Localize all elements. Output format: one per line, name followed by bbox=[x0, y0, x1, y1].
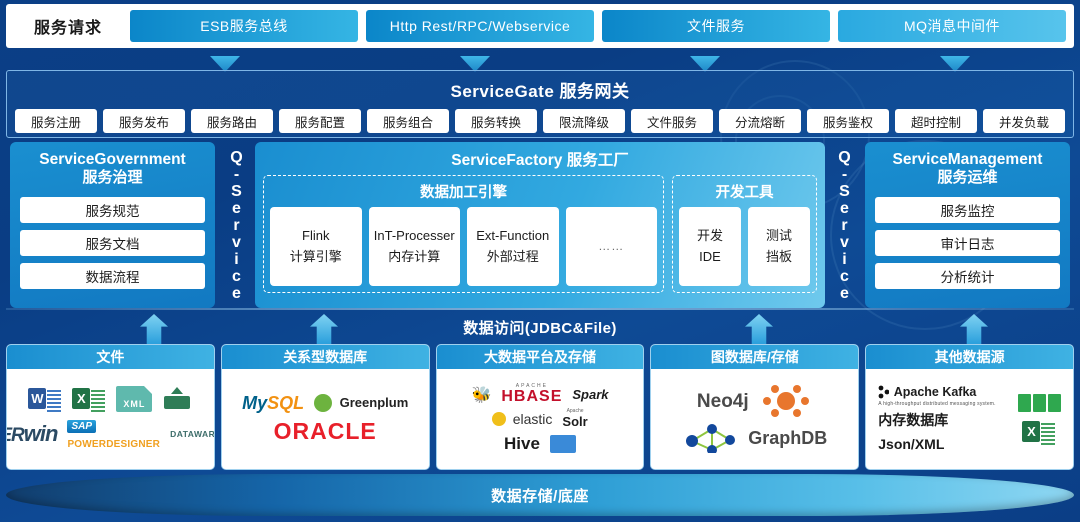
gate-item-file-service[interactable]: 文件服务 bbox=[631, 109, 713, 133]
request-chip-mq[interactable]: MQ消息中间件 bbox=[838, 10, 1066, 42]
gate-item-service-transform[interactable]: 服务转换 bbox=[455, 109, 537, 133]
service-gate-chip-list: 服务注册 服务发布 服务路由 服务配置 服务组合 服务转换 限流降级 文件服务 … bbox=[7, 102, 1073, 133]
elastic-dot-icon bbox=[492, 412, 506, 426]
dev-tools-cells: 开发 IDE 测试 挡板 bbox=[679, 207, 810, 286]
bottom-banner: 数据存储/底座 bbox=[0, 468, 1080, 522]
source-bigdata-body: 🐝 APACHE HBASE Spark elastic Apache Solr bbox=[437, 369, 644, 469]
service-government-title: ServiceGovernment 服务治理 bbox=[20, 150, 205, 188]
json-xml-label: Json/XML bbox=[878, 434, 944, 455]
dev-tools-title: 开发工具 bbox=[679, 181, 810, 202]
tools-cell-test-mock[interactable]: 测试 挡板 bbox=[748, 207, 810, 286]
management-item-analytics[interactable]: 分析统计 bbox=[875, 263, 1060, 289]
mysql-logo: MySQL bbox=[242, 393, 304, 414]
data-processing-engine-cells: Flink 计算引擎 InT-Processer 内存计算 Ext-Functi… bbox=[270, 207, 657, 286]
greenplum-dot-icon bbox=[314, 394, 332, 412]
gate-item-service-auth[interactable]: 服务鉴权 bbox=[807, 109, 889, 133]
service-government-title-cn: 服务治理 bbox=[20, 169, 205, 188]
tools-cell-dev-l2: IDE bbox=[699, 247, 721, 267]
service-management-title-cn: 服务运维 bbox=[875, 169, 1060, 188]
memory-db-label: 内存数据库 bbox=[878, 410, 948, 431]
other-text-block: Apache Kafka A high-throughput distribut… bbox=[878, 383, 996, 455]
q-service-text-right: Q-Service bbox=[836, 149, 852, 302]
source-bigdata-title: 大数据平台及存储 bbox=[437, 345, 644, 369]
source-other-title: 其他数据源 bbox=[866, 345, 1073, 369]
bigdata-logo-row-2: elastic Apache Solr bbox=[442, 409, 639, 430]
source-rdbms-body: MySQL Greenplum ORACLE bbox=[222, 369, 429, 469]
oracle-logo: ORACLE bbox=[274, 418, 377, 445]
service-factory-title: ServiceFactory 服务工厂 bbox=[263, 148, 817, 170]
service-factory-body: 数据加工引擎 Flink 计算引擎 InT-Processer 内存计算 Ext… bbox=[263, 175, 817, 293]
tools-cell-dev-l1: 开发 bbox=[697, 226, 723, 246]
sap-icon: SAP bbox=[67, 420, 96, 433]
gate-item-rate-limit[interactable]: 限流降级 bbox=[543, 109, 625, 133]
powerdesigner-label: POWERDESIGNER bbox=[67, 439, 160, 450]
hive-file-icon bbox=[550, 435, 576, 453]
service-government-card: ServiceGovernment 服务治理 服务规范 服务文档 数据流程 bbox=[10, 142, 215, 308]
source-graphdb-title: 图数据库/存储 bbox=[651, 345, 858, 369]
rdbms-logo-row-1: MySQL Greenplum bbox=[227, 393, 424, 414]
source-column-bigdata[interactable]: 大数据平台及存储 🐝 APACHE HBASE Spark elastic Ap… bbox=[436, 344, 645, 470]
tools-cell-dev-ide[interactable]: 开发 IDE bbox=[679, 207, 741, 286]
service-government-title-en: ServiceGovernment bbox=[20, 150, 205, 169]
excel-icon: X bbox=[1022, 420, 1056, 444]
data-processing-engine-group: 数据加工引擎 Flink 计算引擎 InT-Processer 内存计算 Ext… bbox=[263, 175, 664, 293]
engine-cell-int-processer[interactable]: InT-Processer 内存计算 bbox=[369, 207, 461, 286]
source-rdbms-title: 关系型数据库 bbox=[222, 345, 429, 369]
gate-item-circuit-breaker[interactable]: 分流熔断 bbox=[719, 109, 801, 133]
bottom-banner-label: 数据存储/底座 bbox=[491, 485, 589, 506]
q-service-text-left: Q-Service bbox=[228, 149, 244, 302]
data-processing-engine-title: 数据加工引擎 bbox=[270, 181, 657, 202]
service-management-title-en: ServiceManagement bbox=[875, 150, 1060, 169]
engine-cell-flink-l2: 计算引擎 bbox=[290, 247, 342, 267]
rdbms-logo-row-2: ORACLE bbox=[227, 418, 424, 445]
bigdata-logo-row-1: 🐝 APACHE HBASE Spark bbox=[442, 384, 639, 405]
governance-item-data-flow[interactable]: 数据流程 bbox=[20, 263, 205, 289]
management-item-audit-log[interactable]: 审计日志 bbox=[875, 230, 1060, 256]
management-item-service-monitor[interactable]: 服务监控 bbox=[875, 197, 1060, 223]
other-icon-block: X bbox=[1018, 394, 1061, 444]
file-logo-row-2: ERwin SAP POWERDESIGNER DATAWARE bbox=[12, 416, 209, 452]
source-graphdb-body: Neo4j bbox=[651, 369, 858, 469]
greenplum-label: Greenplum bbox=[340, 396, 409, 411]
service-management-item-list: 服务监控 审计日志 分析统计 bbox=[875, 197, 1060, 289]
governance-item-service-doc[interactable]: 服务文档 bbox=[20, 230, 205, 256]
source-files-title: 文件 bbox=[7, 345, 214, 369]
hbase-logo: APACHE HBASE bbox=[501, 384, 562, 405]
gate-item-service-register[interactable]: 服务注册 bbox=[15, 109, 97, 133]
data-access-bar: 数据访问(JDBC&File) bbox=[6, 310, 1074, 344]
engine-cell-flink-l1: Flink bbox=[302, 226, 329, 246]
service-factory-card: ServiceFactory 服务工厂 数据加工引擎 Flink 计算引擎 In… bbox=[255, 142, 825, 308]
solr-label: Solr bbox=[562, 414, 587, 429]
tools-cell-test-l2: 挡板 bbox=[766, 247, 792, 267]
gate-item-service-config[interactable]: 服务配置 bbox=[279, 109, 361, 133]
dataware-logo: DATAWARE bbox=[170, 429, 215, 439]
solr-logo: Apache Solr bbox=[562, 409, 587, 430]
file-logo-row-1: W X XML bbox=[12, 386, 209, 412]
source-column-rdbms[interactable]: 关系型数据库 MySQL Greenplum ORACLE bbox=[221, 344, 430, 470]
elastic-logo: elastic bbox=[492, 411, 552, 429]
erwin-logo: ERwin bbox=[6, 421, 57, 447]
graphdb-logo: GraphDB bbox=[748, 428, 827, 449]
green-grid-icon bbox=[1018, 394, 1061, 412]
service-management-title: ServiceManagement 服务运维 bbox=[875, 150, 1060, 188]
source-column-files[interactable]: 文件 W X XML ERwin SAP P bbox=[6, 344, 215, 470]
kafka-logo: Apache Kafka A high-throughput distribut… bbox=[878, 383, 996, 407]
engine-cell-flink[interactable]: Flink 计算引擎 bbox=[270, 207, 362, 286]
neo4j-graph-icon bbox=[682, 423, 738, 453]
hive-bee-logo: 🐝 bbox=[471, 385, 491, 405]
source-column-other[interactable]: 其他数据源 Apache Kafka A high-throughput dis… bbox=[865, 344, 1074, 470]
elastic-label: elastic bbox=[513, 411, 553, 427]
engine-cell-ext-function-l1: Ext-Function bbox=[476, 226, 549, 246]
graph-logo-row-2: GraphDB bbox=[656, 423, 853, 453]
service-government-item-list: 服务规范 服务文档 数据流程 bbox=[20, 197, 205, 289]
source-other-body: Apache Kafka A high-throughput distribut… bbox=[866, 369, 1073, 469]
graph-logo-row-1: Neo4j bbox=[656, 385, 853, 419]
request-chip-file-service[interactable]: 文件服务 bbox=[602, 10, 830, 42]
engine-cell-ext-function-l2: 外部过程 bbox=[487, 247, 539, 267]
gate-item-service-publish[interactable]: 服务发布 bbox=[103, 109, 185, 133]
engine-cell-int-processer-l2: 内存计算 bbox=[388, 247, 440, 267]
neo4j-logo: Neo4j bbox=[697, 391, 749, 413]
engine-cell-int-processer-l1: InT-Processer bbox=[374, 226, 455, 246]
data-source-columns: 文件 W X XML ERwin SAP P bbox=[4, 344, 1076, 470]
request-chip-http-rest[interactable]: Http Rest/RPC/Webservice bbox=[366, 10, 594, 42]
excel-icon: X bbox=[72, 387, 106, 411]
engine-cell-more[interactable]: …… bbox=[566, 207, 658, 286]
kafka-tagline: A high-throughput distributed messaging … bbox=[878, 401, 996, 407]
greenplum-logo: Greenplum bbox=[314, 394, 408, 412]
engine-cell-ext-function[interactable]: Ext-Function 外部过程 bbox=[467, 207, 559, 286]
gate-item-service-route[interactable]: 服务路由 bbox=[191, 109, 273, 133]
hive-logo: Hive bbox=[504, 434, 540, 454]
q-service-label-right: Q-Service bbox=[827, 142, 861, 308]
database-icon bbox=[162, 387, 192, 411]
gate-item-service-compose[interactable]: 服务组合 bbox=[367, 109, 449, 133]
source-column-graphdb[interactable]: 图数据库/存储 Neo4j bbox=[650, 344, 859, 470]
service-request-bar: 服务请求 ESB服务总线 Http Rest/RPC/Webservice 文件… bbox=[6, 4, 1074, 48]
word-icon: W bbox=[28, 387, 62, 411]
mysql-sql-text: SQL bbox=[267, 393, 304, 413]
governance-item-service-spec[interactable]: 服务规范 bbox=[20, 197, 205, 223]
graphdb-nodes-icon bbox=[759, 385, 813, 419]
gate-item-concurrent-load[interactable]: 并发负载 bbox=[983, 109, 1065, 133]
bottom-banner-shape: 数据存储/底座 bbox=[6, 474, 1074, 516]
middle-row: ServiceGovernment 服务治理 服务规范 服务文档 数据流程 Q-… bbox=[6, 142, 1074, 308]
service-gate-title: ServiceGate 服务网关 bbox=[7, 71, 1073, 102]
service-management-card: ServiceManagement 服务运维 服务监控 审计日志 分析统计 bbox=[865, 142, 1070, 308]
service-gate-panel: ServiceGate 服务网关 服务注册 服务发布 服务路由 服务配置 服务组… bbox=[6, 70, 1074, 138]
request-chip-esb[interactable]: ESB服务总线 bbox=[130, 10, 358, 42]
q-service-label-left: Q-Service bbox=[219, 142, 253, 308]
service-request-label: 服务请求 bbox=[14, 14, 122, 38]
xml-file-icon: XML bbox=[116, 386, 152, 412]
source-files-body: W X XML ERwin SAP POWERDESIGNER DATA bbox=[7, 369, 214, 469]
bigdata-logo-row-3: Hive bbox=[442, 434, 639, 454]
kafka-label: Apache Kafka bbox=[894, 385, 977, 399]
spark-logo: Spark bbox=[572, 387, 608, 402]
dev-tools-group: 开发工具 开发 IDE 测试 挡板 bbox=[672, 175, 817, 293]
kafka-dots-icon bbox=[878, 385, 889, 399]
gate-item-timeout-control[interactable]: 超时控制 bbox=[895, 109, 977, 133]
tools-cell-test-l1: 测试 bbox=[766, 226, 792, 246]
sap-powerdesigner-logo: SAP POWERDESIGNER bbox=[67, 416, 160, 452]
hbase-label: HBASE bbox=[501, 388, 562, 405]
